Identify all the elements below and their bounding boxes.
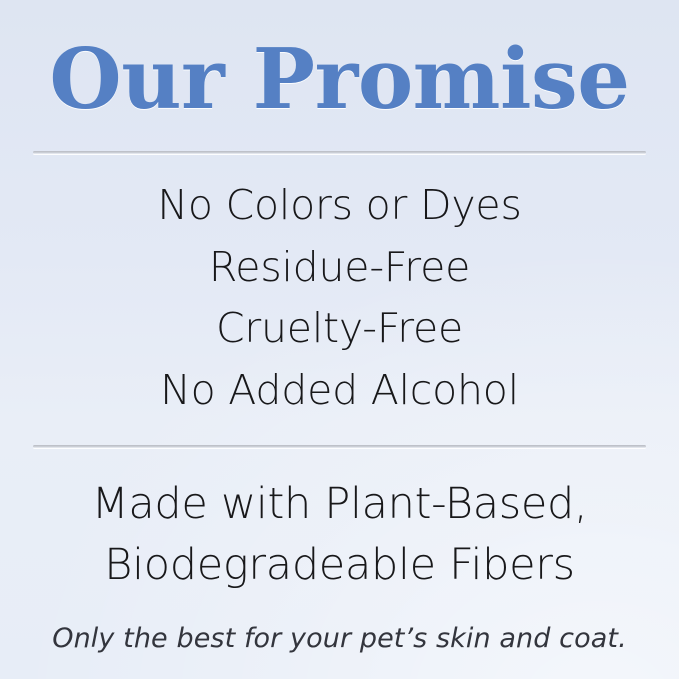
- promise-list: No Colors or Dyes Residue-Free Cruelty-F…: [0, 175, 679, 421]
- divider-middle: [33, 445, 646, 448]
- materials-tagline-line-2: Biodegradeable Fibers: [0, 535, 679, 596]
- list-item: Residue-Free: [0, 237, 679, 299]
- page-title: Our Promise: [0, 0, 679, 121]
- list-item: Cruelty-Free: [0, 298, 679, 360]
- materials-tagline: Made with Plant-Based, Biodegradeable Fi…: [0, 474, 679, 596]
- our-promise-card: Our Promise No Colors or Dyes Residue-Fr…: [0, 0, 679, 679]
- materials-tagline-line-1: Made with Plant-Based,: [0, 474, 679, 535]
- divider-top: [33, 151, 646, 154]
- footnote-text: Only the best for your pet’s skin and co…: [0, 622, 679, 656]
- list-item: No Added Alcohol: [0, 360, 679, 422]
- list-item: No Colors or Dyes: [0, 175, 679, 237]
